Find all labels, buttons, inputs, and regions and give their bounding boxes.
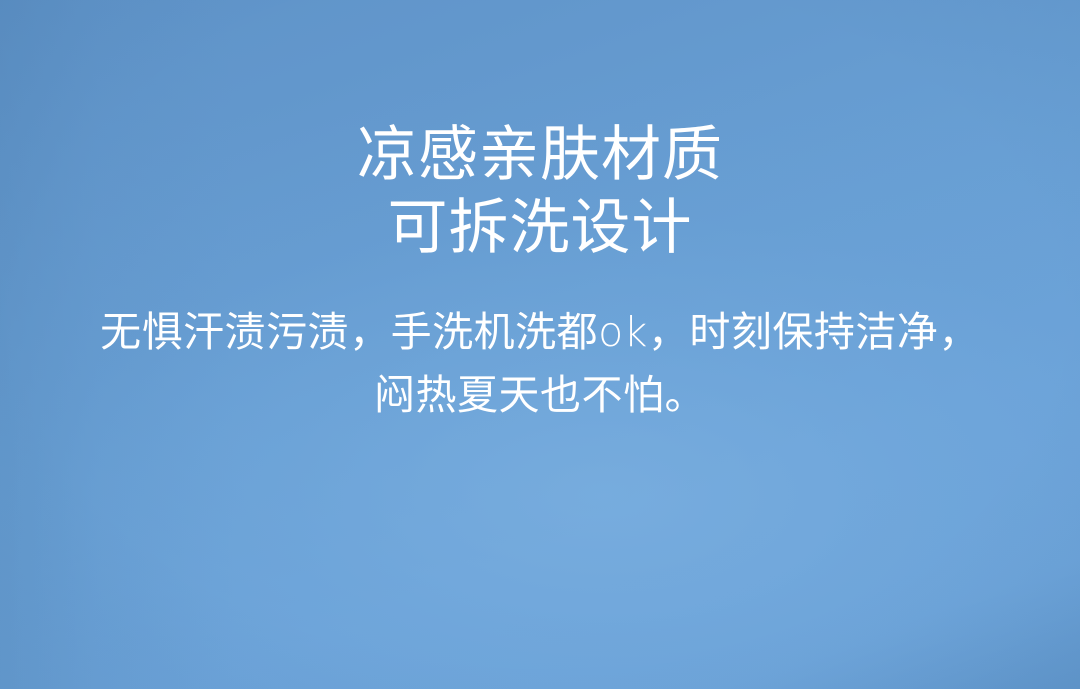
headline: 凉感亲肤材质 可拆洗设计 — [0, 0, 1080, 265]
subtitle: 无惧汗渍污渍，手洗机洗都ok，时刻保持洁净，闷热夏天也不怕。 — [100, 265, 980, 427]
product-feature-banner: 凉感亲肤材质 可拆洗设计 无惧汗渍污渍，手洗机洗都ok，时刻保持洁净，闷热夏天也… — [0, 0, 1080, 689]
headline-line-1: 凉感亲肤材质 — [0, 0, 1080, 192]
headline-line-2: 可拆洗设计 — [0, 192, 1080, 265]
banner-text-block: 凉感亲肤材质 可拆洗设计 无惧汗渍污渍，手洗机洗都ok，时刻保持洁净，闷热夏天也… — [0, 0, 1080, 427]
